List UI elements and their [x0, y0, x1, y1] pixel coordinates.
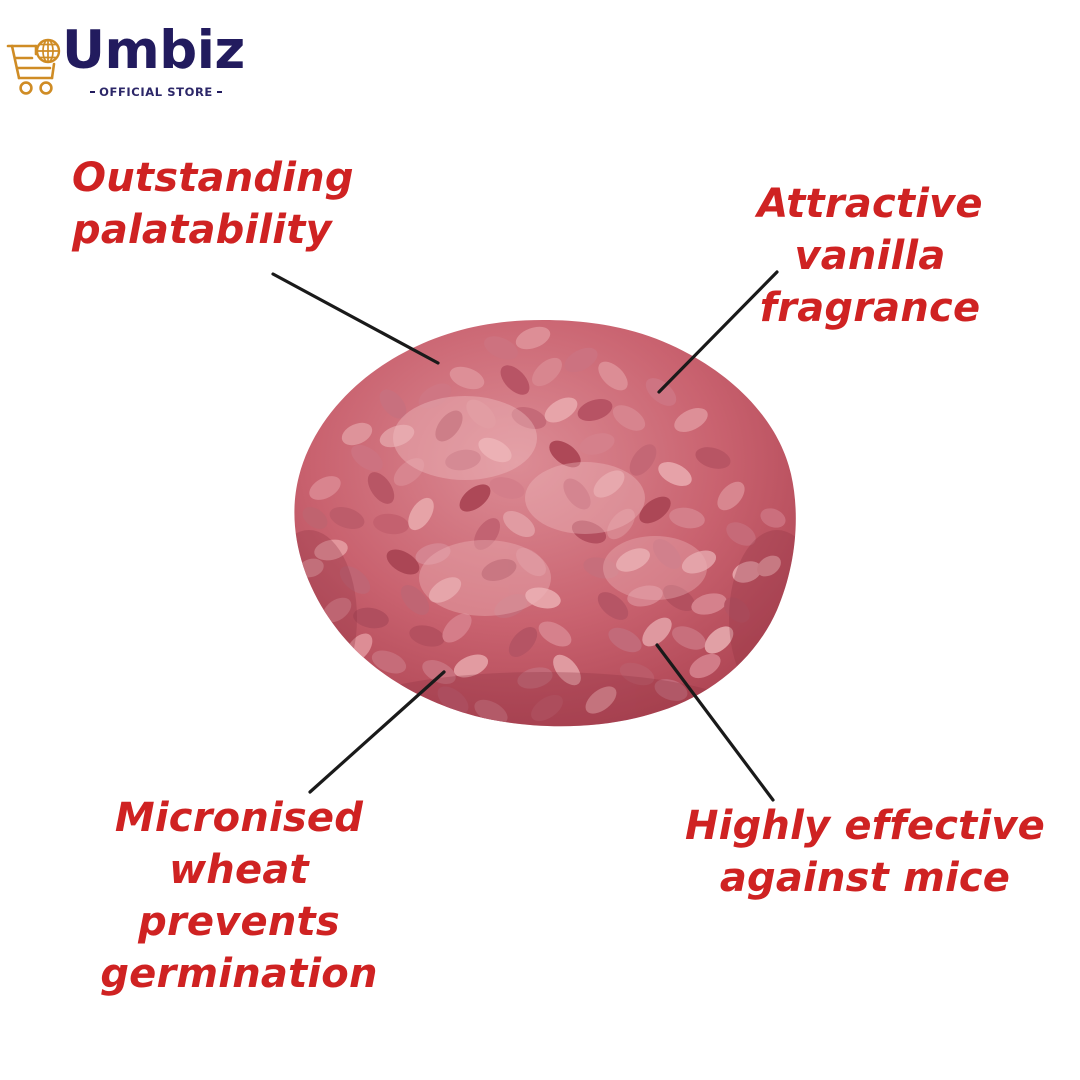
callout-highly-effective-against-mice: Highly effective against mice	[680, 800, 1050, 904]
callout-outstanding-palatability: Outstanding palatability	[72, 152, 402, 256]
brand-tagline-row: OFFICIAL STORE	[90, 82, 222, 102]
brand-wordmark: Umbiz	[62, 22, 237, 82]
shopping-cart-globe-icon	[6, 34, 70, 96]
tagline-rule-left	[90, 91, 95, 93]
brand-logo[interactable]: Umbiz OFFICIAL STORE	[6, 22, 236, 104]
callout-attractive-vanilla-fragrance: Attractive vanilla fragrance	[690, 178, 1050, 334]
product-grain-pile-image	[285, 318, 800, 730]
brand-tagline: OFFICIAL STORE	[99, 85, 213, 99]
tagline-rule-right	[217, 91, 222, 93]
infographic-canvas: Umbiz OFFICIAL STORE	[0, 0, 1080, 1080]
callout-micronised-wheat-prevents-germination: Micronised wheat prevents germination	[44, 792, 434, 1000]
